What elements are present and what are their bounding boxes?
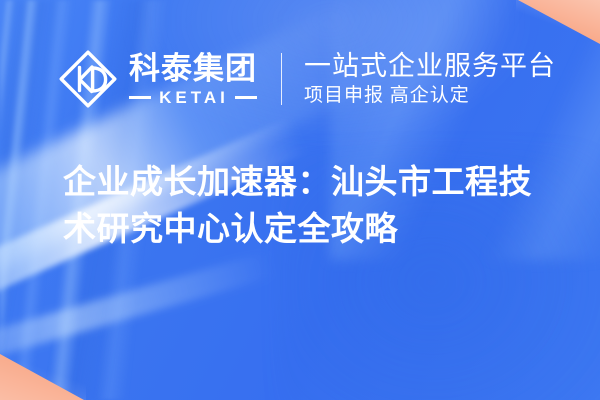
- tagline-block: 一站式企业服务平台 项目申报 高企认定: [304, 51, 556, 108]
- brand-lockup[interactable]: 科泰集团 KETAI: [57, 48, 257, 110]
- promo-banner: 科泰集团 KETAI 一站式企业服务平台 项目申报 高企认定 企业成长加速器：汕…: [0, 0, 600, 400]
- tagline-secondary: 项目申报 高企认定: [304, 84, 556, 108]
- brand-name-en-row: KETAI: [129, 89, 257, 106]
- tagline-primary: 一站式企业服务平台: [304, 51, 556, 82]
- headline-title: 企业成长加速器：汕头市工程技术研究中心认定全攻略: [63, 158, 555, 252]
- brand-header: 科泰集团 KETAI 一站式企业服务平台 项目申报 高企认定: [57, 44, 556, 114]
- brand-name-en: KETAI: [151, 89, 235, 106]
- brand-wordmark: 科泰集团 KETAI: [129, 52, 257, 106]
- ketai-logo-icon: [57, 48, 119, 110]
- brand-name-cn: 科泰集团: [129, 52, 257, 86]
- brand-dash-right: [235, 96, 257, 99]
- corner-accent-top-right: [518, 0, 600, 44]
- header-divider: [281, 53, 282, 105]
- brand-dash-left: [129, 96, 151, 99]
- corner-accent-bottom-left: [0, 354, 84, 400]
